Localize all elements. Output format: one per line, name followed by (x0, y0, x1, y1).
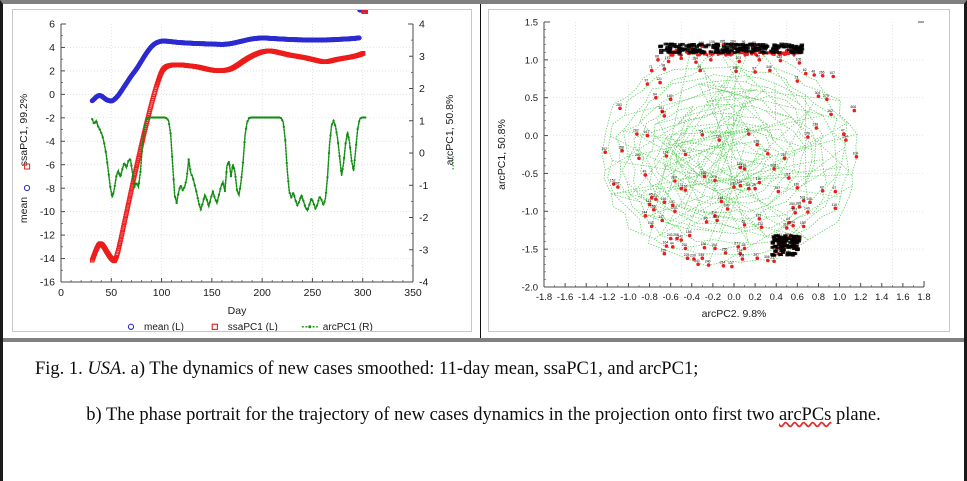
scatter-point-label: 247 (658, 215, 664, 219)
panel-b-xtick-label: 1.0 (833, 292, 846, 303)
legend-marker-dot (308, 325, 311, 328)
scatter-point (743, 223, 747, 227)
scatter-point-label: 304 (785, 232, 791, 236)
panel-b-xtick-label: 1.8 (917, 292, 930, 303)
scatter-point-label: 285 (720, 39, 726, 43)
scatter-point-label: 238 (812, 123, 818, 127)
panel-b-xtick-label: -1.2 (599, 292, 615, 303)
scatter-point (812, 73, 816, 77)
scatter-point (713, 247, 717, 251)
scatter-point (652, 208, 656, 212)
scatter-point-label: 98 (661, 64, 665, 68)
scatter-point-label: 211 (785, 173, 791, 177)
scatter-point-label: 109 (804, 132, 810, 136)
panel-b-xtick-label: -1.6 (557, 292, 573, 303)
scatter-point-label: 234 (720, 260, 726, 264)
panel-b-gridlines (544, 22, 924, 287)
scatter-point-label: 97 (645, 79, 649, 83)
scatter-point-label: 279 (711, 175, 717, 179)
scatter-point (796, 186, 800, 190)
scatter-point (785, 226, 789, 230)
panel-a-xtick-label: 350 (404, 287, 422, 299)
caption-line-b: b) The phase portrait for the trajectory… (29, 402, 938, 428)
scatter-point (760, 225, 764, 229)
scatter-point (783, 156, 787, 160)
scatter-point (726, 207, 730, 211)
scatter-point-label: 168 (770, 163, 776, 167)
scatter-point (831, 75, 835, 79)
figure-root: 050100150200250300350-16-14-12-10-8-6-4-… (0, 0, 967, 481)
scatter-point-label: 342 (601, 147, 607, 151)
scatter-point-label: 144 (641, 210, 647, 214)
scatter-point (669, 237, 673, 241)
scatter-point (663, 67, 667, 71)
scatter-point-label: 167 (644, 130, 650, 134)
scatter-point-label: 306 (764, 255, 770, 259)
caption-line-a: Fig. 1. USA. a) The dynamics of new case… (29, 356, 938, 382)
panel-b-xtick-label: -1.0 (620, 292, 636, 303)
scatter-point-label: 184 (692, 57, 698, 61)
scatter-point (798, 61, 802, 65)
panel-b-xtick-label: -1.4 (578, 292, 594, 303)
scatter-point-label: 132 (758, 222, 764, 226)
scatter-point (844, 138, 848, 142)
scatter-point (667, 60, 671, 64)
scatter-point-label: 237 (770, 256, 776, 260)
scatter-point (747, 187, 751, 191)
panel-b-xtick-label: 0.6 (791, 292, 804, 303)
scatter-point-label: 48 (811, 70, 815, 74)
scatter-point-label: 284 (730, 39, 736, 43)
panel-a-ytick-left-label: -2 (46, 112, 55, 124)
panel-a-ytick-right-label: -4 (419, 277, 428, 289)
scatter-point-label: 303 (735, 56, 741, 60)
scatter-point-label: 52 (742, 220, 746, 224)
scatter-point (637, 156, 641, 160)
scatter-point (793, 211, 797, 215)
scatter-point-label: 255 (722, 248, 728, 252)
chart-b-svg: -1.8-1.6-1.4-1.2-1.0-0.8-0.6-0.4-0.20.00… (489, 10, 949, 331)
panel-b-frame: -1.8-1.6-1.4-1.2-1.0-0.8-0.6-0.4-0.20.00… (488, 9, 950, 332)
scatter-point-label: 304 (815, 91, 821, 95)
scatter-point-label: 72 (673, 45, 677, 49)
scatter-point-label: 201 (679, 44, 685, 48)
panel-b-xtick-label: 1.2 (854, 292, 867, 303)
scatter-point (720, 200, 724, 204)
scatter-point-label: 106 (791, 48, 797, 52)
scatter-point (806, 210, 810, 214)
scatter-point-label: 302 (772, 44, 778, 48)
panel-b-xtick-label: -0.4 (684, 292, 700, 303)
scatter-point-label: 107 (829, 71, 835, 75)
scatter-point (673, 209, 677, 213)
scatter-point-label: 140 (671, 206, 677, 210)
scatter-point (737, 60, 741, 64)
scatter-point-label: 105 (796, 57, 802, 61)
panel-a-ytick-right-label: -3 (419, 244, 428, 256)
panel-b-xtick-label: -0.2 (705, 292, 721, 303)
scatter-point (696, 262, 700, 266)
scatter-point (758, 58, 762, 62)
scatter-point-label: 166 (650, 204, 656, 208)
scatter-point-label: 147 (669, 200, 675, 204)
scatter-point-label: 49 (642, 170, 646, 174)
scatter-point-label: 266 (819, 70, 825, 74)
scatter-point (688, 234, 692, 238)
scatter-point-label: 241 (694, 259, 700, 263)
scatter-point-label: 239 (690, 254, 696, 258)
scatter-point-label: 111 (777, 233, 782, 237)
scatter-point-label: 250 (789, 202, 795, 206)
panel-a-xtick-label: 200 (253, 287, 271, 299)
scatter-point-label: 135 (709, 40, 715, 44)
panel-a-ytick-right-label: 4 (419, 19, 425, 31)
scatter-point (791, 224, 795, 228)
scatter-point-label: 304 (789, 220, 795, 224)
panel-b-ytick-label: 0.0 (525, 131, 538, 142)
scatter-point-label: 218 (796, 201, 802, 205)
panel-b-phase-portrait: -1.8-1.6-1.4-1.2-1.0-0.8-0.6-0.4-0.20.00… (481, 4, 960, 338)
scatter-point-label: 29 (752, 183, 756, 187)
scatter-point (821, 74, 825, 78)
scatter-point (802, 199, 806, 203)
scatter-point-label: 159 (660, 248, 666, 252)
scatter-point (694, 60, 698, 64)
scatter-point-label: 51 (746, 129, 750, 133)
scatter-point-label: 281 (635, 153, 641, 157)
scatter-point-label: 96 (742, 40, 746, 44)
scatter-point-label: 271 (734, 241, 740, 245)
scatter-point-label: 297 (753, 253, 759, 257)
scatter-point-label: 126 (753, 139, 759, 143)
scatter-point-label: 118 (745, 183, 751, 187)
panel-a-legend: mean (L)ssaPC1 (L)arcPC1 (R) (128, 322, 372, 331)
scatter-point (603, 150, 607, 154)
scatter-point (703, 175, 707, 179)
scatter-point (779, 59, 783, 63)
scatter-point (743, 247, 747, 251)
scatter-point (717, 138, 721, 142)
scatter-point-label: 312 (783, 223, 789, 227)
scatter-point (817, 94, 821, 98)
panel-a-ytick-left-label: -14 (40, 253, 55, 265)
scatter-point-label: 158 (686, 230, 692, 234)
figure-panels: 050100150200250300350-16-14-12-10-8-6-4-… (3, 4, 964, 342)
scatter-point-label: 121 (656, 77, 662, 81)
panel-b-ytick-label: -1.5 (522, 245, 538, 256)
scatter-point (730, 265, 734, 269)
panel-a-ytick-right-label: 1 (419, 115, 425, 127)
scatter-point (673, 179, 677, 183)
scatter-point-label: 159 (800, 221, 806, 225)
panel-b-xaxis-label: arcPC2. 9.8% (702, 308, 767, 320)
scatter-point-label: 94 (653, 92, 657, 96)
panel-a-xtick-label: 50 (105, 287, 117, 299)
scatter-point-label: 116 (682, 185, 688, 189)
panel-a-ylabel-ssapc1: ssaPC1, 99.2% (18, 94, 30, 166)
scatter-point (654, 96, 658, 100)
scatter-point (679, 238, 683, 242)
scatter-point-label: 313 (713, 215, 719, 219)
scatter-point-label: 86 (756, 54, 760, 58)
panel-b-xtick-label: 0.8 (812, 292, 825, 303)
scatter-point (671, 245, 675, 249)
caption-prefix: Fig. 1. (35, 359, 87, 379)
panel-a-xaxis-label: Day (228, 305, 247, 317)
scatter-point-label: 148 (660, 197, 666, 201)
scatter-point (772, 167, 776, 171)
scatter-point-label: 346 (766, 65, 772, 69)
scatter-point-label: 531 (800, 195, 806, 199)
scatter-point (853, 109, 857, 113)
scatter-point (829, 113, 833, 117)
scatter-point (698, 69, 702, 73)
panel-a-ytick-left-label: 2 (49, 66, 55, 78)
scatter-point-label: 313 (755, 213, 761, 217)
scatter-point (766, 259, 770, 263)
scatter-point (665, 154, 669, 158)
panel-a-ytick-left-label: -6 (46, 159, 55, 171)
scatter-point (802, 225, 806, 229)
scatter-point (650, 69, 654, 73)
scatter-point-label: 46 (704, 216, 708, 220)
scatter-point-label: 190 (783, 45, 789, 49)
scatter-point (669, 97, 673, 101)
scatter-point (743, 167, 747, 171)
panel-a-axes: 050100150200250300350-16-14-12-10-8-6-4-… (40, 19, 429, 299)
scatter-point-label: 235 (698, 253, 704, 257)
panel-a-ylabel-arcpc1: arcPC1, 50.8% (444, 95, 456, 166)
scatter-point (658, 81, 662, 85)
scatter-point (684, 188, 688, 192)
panel-a-xtick-label: 250 (304, 287, 322, 299)
scatter-point (635, 132, 639, 136)
scatter-point-label: 57 (832, 186, 836, 190)
panel-a-ytick-right-label: -2 (419, 212, 428, 224)
scatter-point (834, 190, 838, 194)
scatter-point-label: 249 (724, 204, 730, 208)
caption-part-b-before: b) The phase portrait for the trajectory… (86, 405, 779, 425)
scatter-point-label: 279 (823, 94, 829, 98)
scatter-point (796, 79, 800, 83)
scatter-point (663, 252, 667, 256)
scatter-point (650, 225, 654, 229)
panel-b-yaxis-label: arcPC1, 50.8% (496, 119, 508, 190)
panel-a-frame: 050100150200250300350-16-14-12-10-8-6-4-… (12, 9, 472, 332)
scatter-point (734, 69, 738, 73)
scatter-point-label: 314 (711, 210, 717, 214)
scatter-point-label: 116 (832, 203, 838, 207)
figure-caption: Fig. 1. USA. a) The dynamics of new case… (3, 342, 964, 477)
scatter-point (684, 153, 688, 157)
scatter-point (703, 246, 707, 250)
scatter-point (821, 189, 825, 193)
panel-a-ytick-left-label: 0 (49, 89, 55, 101)
caption-part-a: . a) The dynamics of new cases smoothed:… (121, 359, 698, 379)
scatter-point (825, 97, 829, 101)
scatter-point (755, 143, 759, 147)
scatter-point-label: 120 (736, 180, 742, 184)
legend-marker-square-open (212, 324, 217, 329)
scatter-point-label: 149 (804, 207, 810, 211)
panel-a-ytick-left-label: -8 (46, 183, 55, 195)
panel-b-xtick-label: 1.4 (875, 292, 888, 303)
scatter-point (646, 82, 650, 86)
scatter-point (660, 219, 664, 223)
scatter-point-label: 347 (774, 186, 780, 190)
scatter-point-label: 207 (688, 42, 694, 46)
scatter-point-label: 151 (658, 106, 664, 110)
scatter-point-label: 110 (652, 194, 658, 198)
panel-b-ytick-label: 1.0 (525, 55, 538, 66)
scatter-point (753, 70, 757, 74)
panel-b-ytick-label: -1.0 (522, 207, 538, 218)
panel-a-ytick-left-label: -12 (40, 230, 55, 242)
scatter-point-label: 308 (739, 254, 745, 258)
panel-b-xtick-label: 0.4 (770, 292, 783, 303)
scatter-point (618, 107, 622, 111)
panel-b-xtick-label: -1.8 (536, 292, 552, 303)
scatter-point (766, 152, 770, 156)
scatter-point-label: 164 (842, 135, 848, 139)
scatter-point-label: 88 (752, 41, 756, 45)
scatter-point-label: 142 (677, 235, 683, 239)
panel-b-xtick-label: 0.0 (727, 292, 740, 303)
scatter-point-label: 99 (697, 65, 701, 69)
panel-b-xtick-label: -0.6 (662, 292, 678, 303)
scatter-point-label: 71 (649, 65, 653, 69)
panel-a-ytick-right-label: -1 (419, 180, 428, 192)
scatter-point (777, 190, 781, 194)
series-ssapc1--l- (90, 10, 367, 263)
scatter-point (834, 206, 838, 210)
scatter-point (722, 264, 726, 268)
scatter-point-label: 154 (711, 243, 717, 247)
scatter-point (787, 176, 791, 180)
scatter-point (654, 197, 658, 201)
scatter-point-label: 33 (742, 243, 746, 247)
chart-a-svg: 050100150200250300350-16-14-12-10-8-6-4-… (13, 10, 471, 331)
panel-a-ytick-left-label: 6 (49, 19, 55, 31)
scatter-point (616, 185, 620, 189)
scatter-point-label: 137 (728, 261, 734, 265)
scatter-point (684, 247, 688, 251)
scatter-point-label: 303 (762, 42, 768, 46)
scatter-point-label: 225 (684, 253, 690, 257)
scatter-point (709, 58, 713, 62)
scatter-point-label: 23 (794, 76, 798, 80)
scatter-point-label: 114 (646, 199, 652, 203)
panel-a-ytick-right-label: 3 (419, 51, 425, 63)
panel-b-point-labels: 6872201207166135285284968830330219010668… (601, 39, 858, 265)
scatter-point (855, 155, 859, 159)
scatter-point (753, 187, 757, 191)
scatter-point-label: 123 (791, 235, 797, 239)
scatter-point (705, 220, 709, 224)
scatter-point-label: 240 (705, 260, 711, 264)
panel-a-ytick-right-label: 0 (419, 148, 425, 160)
scatter-point (715, 219, 719, 223)
scatter-point-label: 119 (741, 163, 747, 167)
scatter-point (713, 178, 717, 182)
scatter-point (806, 135, 810, 139)
scatter-point (808, 200, 812, 204)
scatter-point (701, 256, 705, 260)
scatter-point-label: 136 (715, 135, 721, 139)
scatter-point-label: 109 (853, 151, 859, 155)
scatter-point-label: 47 (841, 129, 845, 133)
scatter-point (798, 205, 802, 209)
scatter-point-label: 164 (663, 241, 669, 245)
legend-marker-circle-open (128, 324, 133, 329)
legend-label: mean (L) (144, 322, 184, 331)
scatter-point (772, 259, 776, 263)
scatter-point-label: 282 (633, 129, 639, 133)
panel-b-xtick-label: 0.2 (749, 292, 762, 303)
scatter-point-label: 445 (777, 55, 783, 59)
panel-b-ytick-label: -0.5 (522, 169, 538, 180)
scatter-point (686, 256, 690, 260)
scatter-point (747, 132, 751, 136)
scatter-point-label: 148 (806, 197, 812, 201)
scatter-point (741, 257, 745, 261)
panel-a-time-series: 050100150200250300350-16-14-12-10-8-6-4-… (3, 4, 481, 338)
scatter-point-label: 210 (682, 243, 688, 247)
scatter-point-label: 60 (683, 149, 687, 153)
scatter-point (815, 126, 819, 130)
caption-region: USA (87, 359, 121, 379)
panel-a-ytick-left-label: -4 (46, 136, 55, 148)
scatter-point-label: 42 (820, 185, 824, 189)
scatter-point (768, 69, 772, 73)
scatter-point-label: 304 (781, 242, 787, 246)
scatter-point-label: 54 (699, 129, 703, 133)
scatter-point-label: 130 (793, 182, 799, 186)
scatter-point-label: 307 (791, 207, 797, 211)
panel-a-ytick-right-label: 2 (419, 83, 425, 95)
series-mean--l- (90, 10, 367, 103)
scatter-point-label: 97 (752, 67, 756, 71)
panel-b-ytick-label: 1.5 (525, 17, 538, 28)
scatter-point-label: 146 (717, 196, 723, 200)
panel-b-xtick-label: 1.6 (896, 292, 909, 303)
scatter-point (739, 184, 743, 188)
scatter-point-label: 114 (737, 248, 743, 252)
panel-a-ylabel-mean-marker (24, 185, 29, 190)
scatter-point-label: 150 (701, 171, 707, 175)
scatter-point-label: 158 (618, 145, 624, 149)
scatter-point-label: 243 (667, 233, 673, 237)
scatter-point-label: 280 (671, 176, 677, 180)
scatter-point (644, 214, 648, 218)
panel-a-xtick-label: 100 (153, 287, 171, 299)
scatter-point (679, 57, 683, 61)
scatter-point (758, 181, 762, 185)
scatter-point-label: 291 (614, 182, 620, 186)
scatter-point (663, 114, 667, 118)
legend-label: ssaPC1 (L) (228, 322, 278, 331)
panel-b-ytick-label: -2.0 (522, 282, 538, 293)
scatter-point-label: 143 (648, 221, 654, 225)
scatter-point (755, 256, 759, 260)
scatter-point (644, 173, 648, 177)
scatter-point (724, 251, 728, 255)
scatter-point-label: 62 (803, 68, 807, 72)
scatter-point-label: 156 (701, 242, 707, 246)
caption-part-b-after: plane. (831, 405, 880, 425)
scatter-point-label: 124 (663, 151, 669, 155)
panel-a-yaxis-right-label: arcPC1, 50.8% (444, 95, 456, 170)
